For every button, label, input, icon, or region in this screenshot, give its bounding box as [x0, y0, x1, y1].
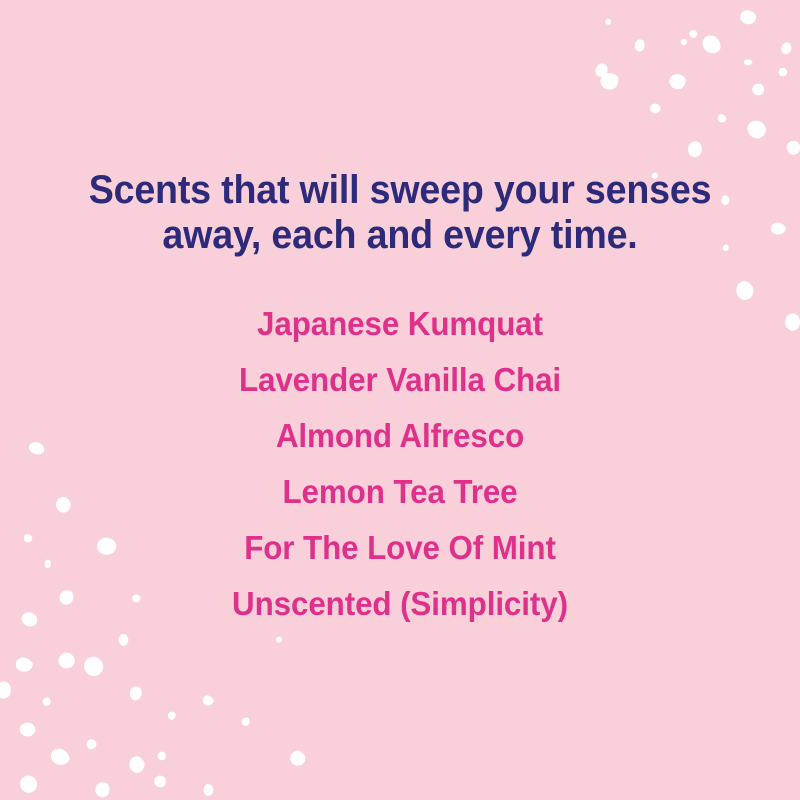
- page-title: Scents that will sweep your senses away,…: [24, 168, 776, 258]
- list-item: Unscented (Simplicity): [20, 576, 780, 632]
- list-item: Japanese Kumquat: [20, 296, 780, 352]
- list-item: Almond Alfresco: [20, 408, 780, 464]
- list-item: Lemon Tea Tree: [20, 464, 780, 520]
- headline-line-2: away, each and every time.: [24, 213, 776, 258]
- list-item: For The Love Of Mint: [20, 520, 780, 576]
- scent-list-poster: Scents that will sweep your senses away,…: [0, 0, 800, 800]
- list-item: Lavender Vanilla Chai: [20, 352, 780, 408]
- poster-content: Scents that will sweep your senses away,…: [0, 0, 800, 800]
- scent-list: Japanese Kumquat Lavender Vanilla Chai A…: [0, 296, 800, 632]
- headline-line-1: Scents that will sweep your senses: [24, 168, 776, 213]
